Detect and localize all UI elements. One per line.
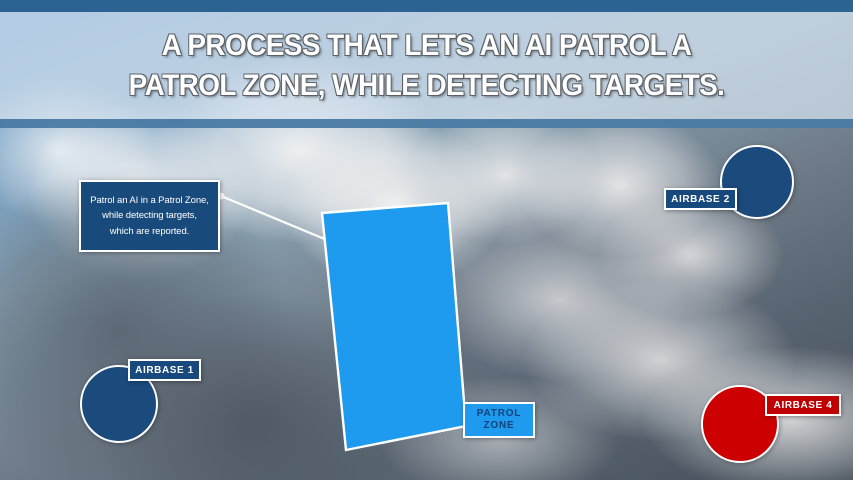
callout-text: Patrol an AI in a Patrol Zone, while det… — [85, 193, 213, 239]
patrol-zone-label[interactable]: PATROL ZONE — [463, 402, 535, 438]
airbase-1-label[interactable]: AIRBASE 1 — [128, 359, 201, 381]
airbase-4-label[interactable]: AIRBASE 4 — [765, 394, 841, 416]
callout-box[interactable]: Patrol an AI in a Patrol Zone, while det… — [79, 180, 220, 252]
patrol-zone-label-line-1: PATROL — [477, 408, 521, 421]
patrol-zone-polygon[interactable] — [322, 203, 466, 450]
callout-line-2: while detecting targets, — [102, 210, 197, 221]
callout-line-1: Patrol an AI in a Patrol Zone, — [90, 195, 208, 206]
slide-canvas: A PROCESS THAT LETS AN AI PATROL A PATRO… — [0, 0, 853, 480]
patrol-zone-label-line-2: ZONE — [484, 420, 515, 433]
callout-line-3: which are reported. — [110, 226, 189, 237]
airbase-2-label[interactable]: AIRBASE 2 — [664, 188, 737, 210]
